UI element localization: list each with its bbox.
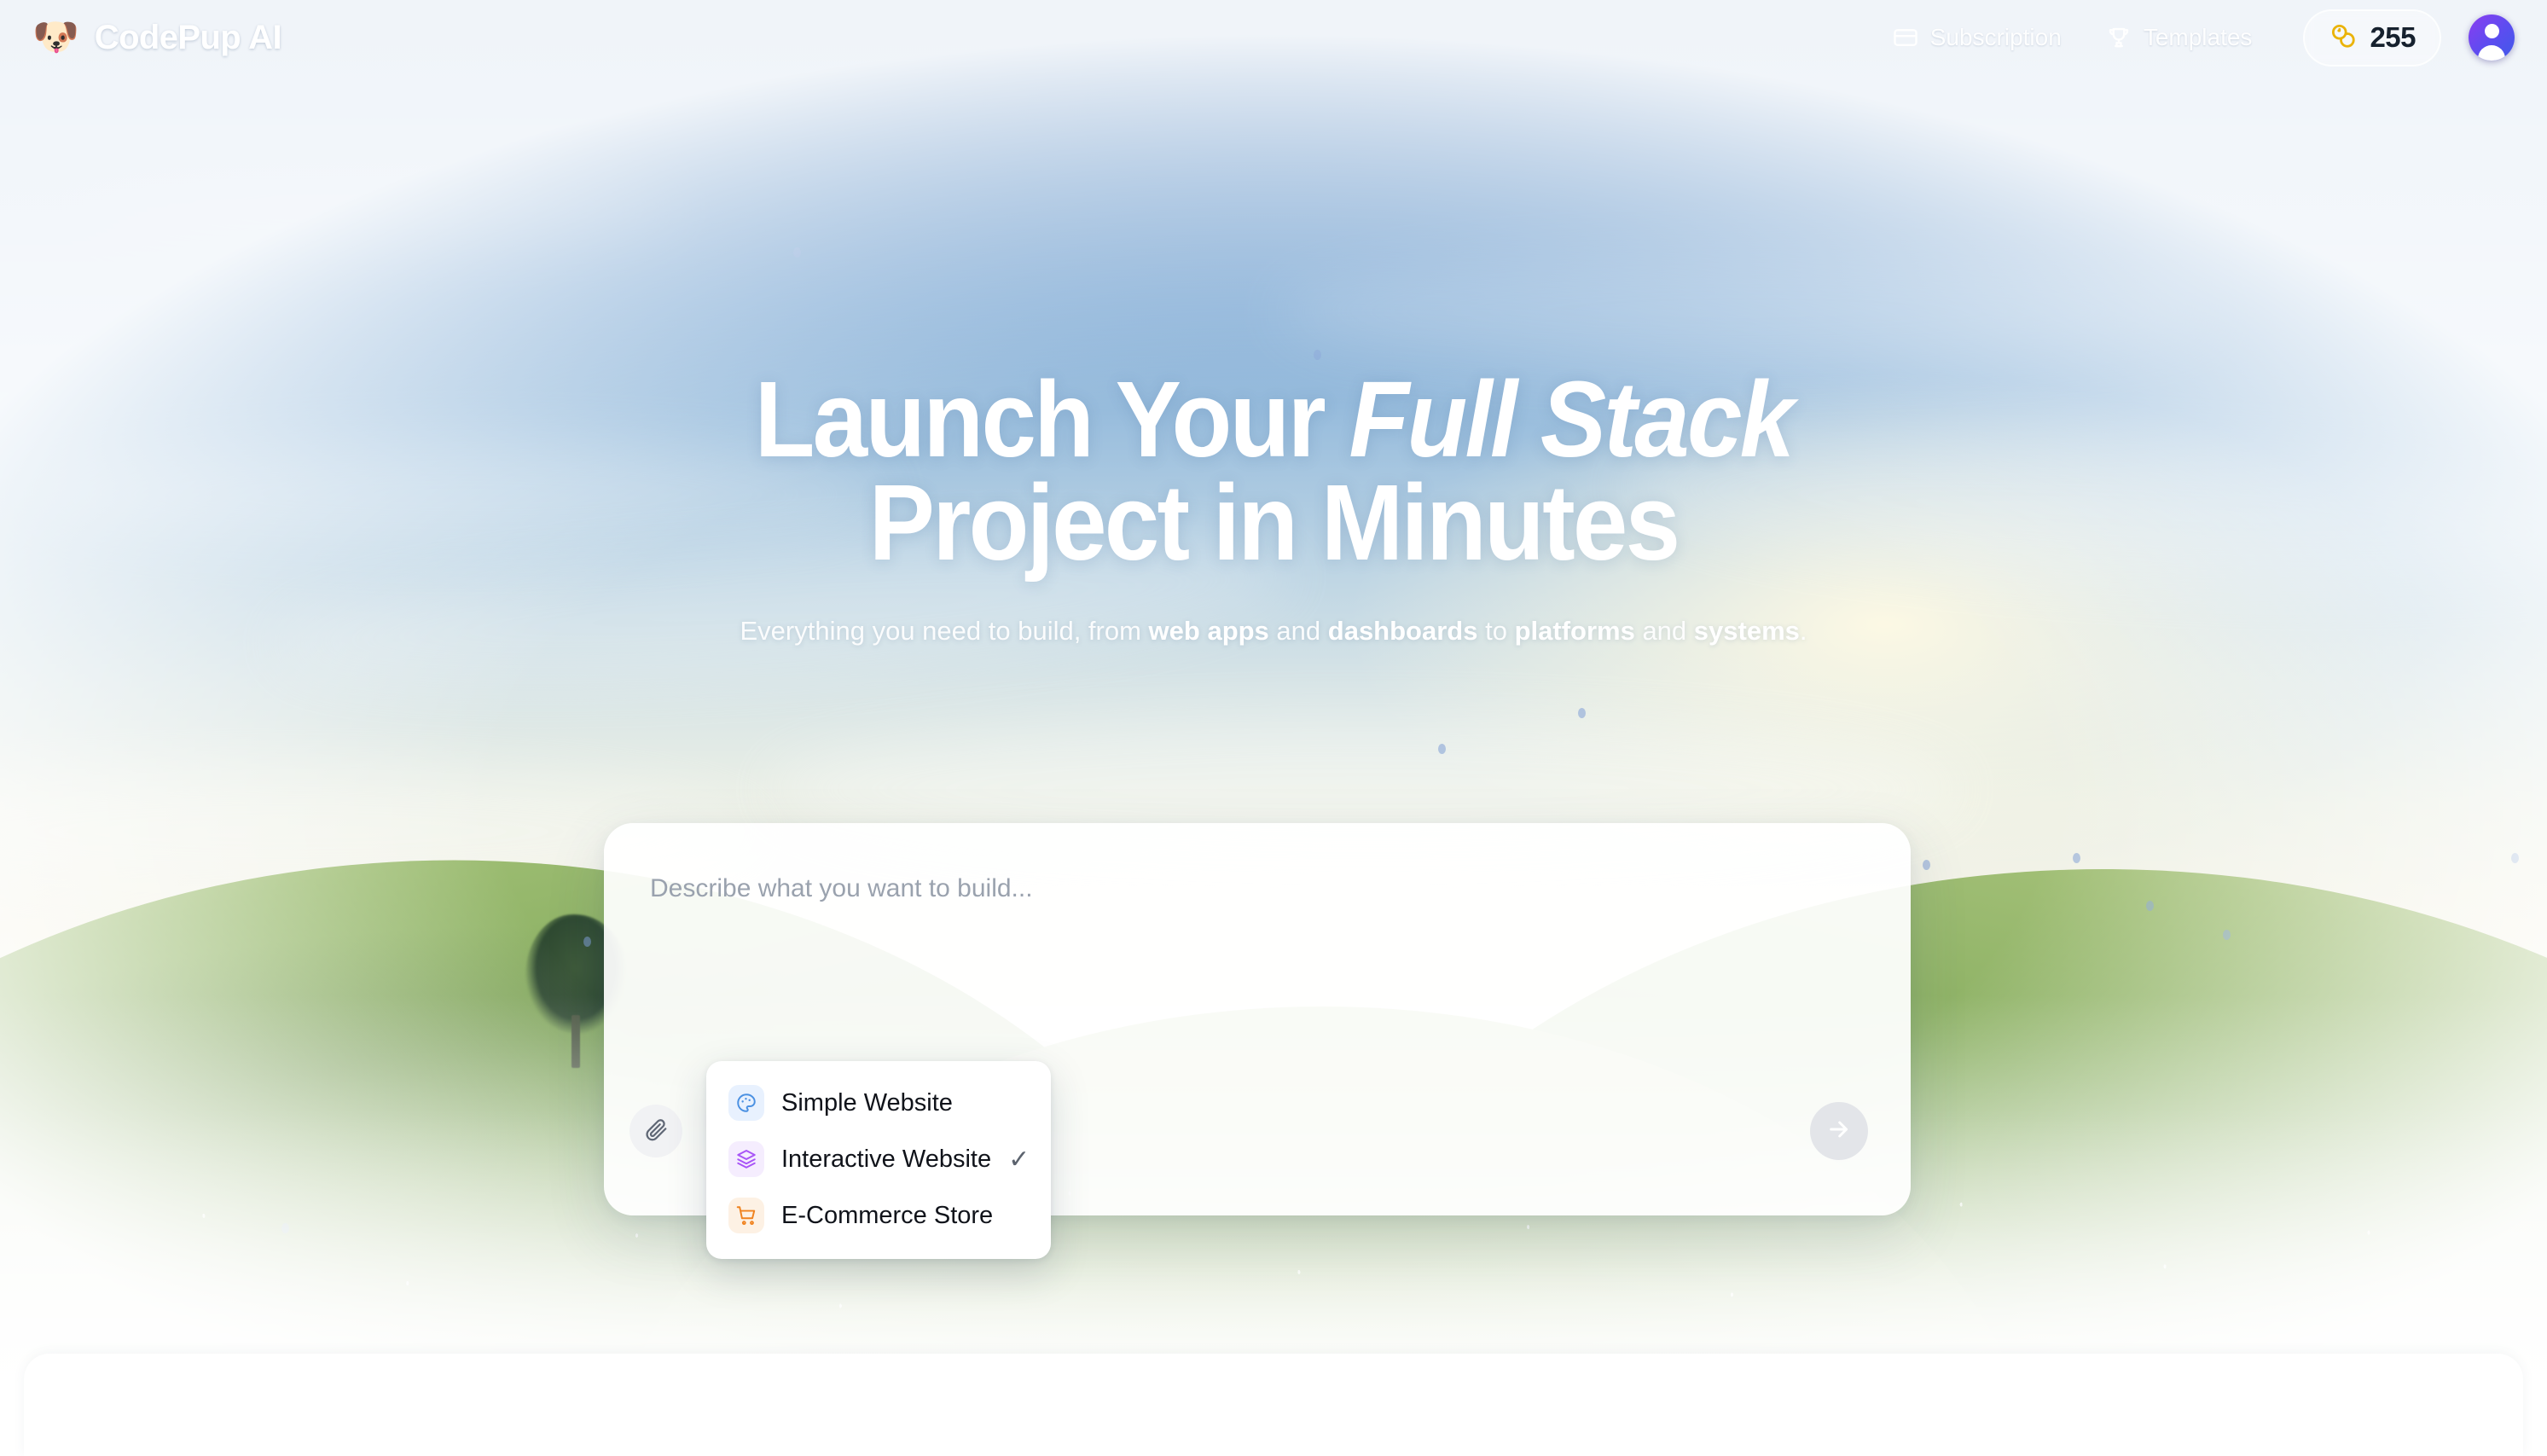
coins-icon xyxy=(2329,21,2358,55)
dropdown-label: Simple Website xyxy=(781,1089,1029,1117)
floating-dot xyxy=(1438,744,1446,754)
palette-icon xyxy=(728,1085,764,1121)
attach-file-button[interactable] xyxy=(629,1105,682,1157)
header-nav: Subscription Templates xyxy=(1871,9,2515,67)
subtitle-seg: to xyxy=(1477,616,1514,646)
check-icon: ✓ xyxy=(1008,1145,1030,1175)
project-type-dropdown: Simple Website Interactive Website ✓ E-C… xyxy=(706,1061,1051,1259)
subtitle-bold: platforms xyxy=(1515,616,1635,646)
floating-dot xyxy=(1923,860,1930,870)
floating-dot xyxy=(2223,930,2231,940)
subtitle-seg: and xyxy=(1635,616,1694,646)
dropdown-item-interactive-website[interactable]: Interactive Website ✓ xyxy=(706,1131,1051,1187)
nav-label-subscription: Subscription xyxy=(1930,24,2062,51)
avatar-head xyxy=(2485,24,2499,38)
floating-dot xyxy=(2073,853,2080,863)
headline-emphasis: Full Stack xyxy=(1349,359,1792,479)
dropdown-label: E-Commerce Store xyxy=(781,1202,1029,1230)
headline-line2: Project in Minutes xyxy=(869,462,1679,583)
credit-card-icon xyxy=(1893,25,1918,50)
dropdown-item-ecommerce-store[interactable]: E-Commerce Store xyxy=(706,1187,1051,1244)
dropdown-label: Interactive Website xyxy=(781,1146,991,1174)
subtitle-seg: Everything you need to build, from xyxy=(740,616,1149,646)
tree-trunk xyxy=(571,1015,580,1068)
puppy-emoji-icon: 🐶 xyxy=(32,19,79,56)
send-prompt-button[interactable] xyxy=(1810,1102,1868,1160)
floating-dot xyxy=(2511,853,2519,863)
floating-dot xyxy=(583,937,591,947)
avatar[interactable] xyxy=(2469,15,2515,61)
shopping-cart-icon xyxy=(728,1198,764,1233)
trophy-icon xyxy=(2106,25,2132,50)
avatar-body xyxy=(2478,45,2505,61)
paperclip-icon xyxy=(643,1117,669,1146)
hero-subtitle: Everything you need to build, from web a… xyxy=(723,611,1824,651)
arrow-right-icon xyxy=(1825,1116,1853,1147)
nav-item-subscription[interactable]: Subscription xyxy=(1871,14,2084,61)
credits-count: 255 xyxy=(2370,21,2416,54)
subtitle-bold: dashboards xyxy=(1328,616,1478,646)
subtitle-bold: systems xyxy=(1694,616,1800,646)
content-panel-below-hero xyxy=(24,1354,2523,1456)
nav-item-templates[interactable]: Templates xyxy=(2084,14,2275,61)
layers-icon xyxy=(728,1141,764,1177)
user-avatar-icon xyxy=(2469,15,2515,61)
brand-logo-group[interactable]: 🐶 CodePup AI xyxy=(32,19,281,57)
app-title: CodePup AI xyxy=(95,19,281,57)
floating-dot xyxy=(2146,901,2154,911)
floating-dot xyxy=(1578,708,1586,718)
nav-label-templates: Templates xyxy=(2144,24,2253,51)
subtitle-seg: . xyxy=(1800,616,1807,646)
app-header: 🐶 CodePup AI Subscription Tem xyxy=(0,0,2547,75)
subtitle-seg: and xyxy=(1269,616,1328,646)
prompt-input-placeholder[interactable]: Describe what you want to build... xyxy=(650,874,1033,903)
floating-dot xyxy=(281,1223,289,1233)
hero-copy: Launch Your Full Stack Project in Minute… xyxy=(0,0,2547,651)
dropdown-item-simple-website[interactable]: Simple Website xyxy=(706,1075,1051,1131)
headline-line1: Launch Your Full Stack xyxy=(755,359,1793,479)
subtitle-bold: web apps xyxy=(1149,616,1269,646)
credits-badge[interactable]: 255 xyxy=(2303,9,2441,67)
page-title: Launch Your Full Stack Project in Minute… xyxy=(102,368,2445,575)
